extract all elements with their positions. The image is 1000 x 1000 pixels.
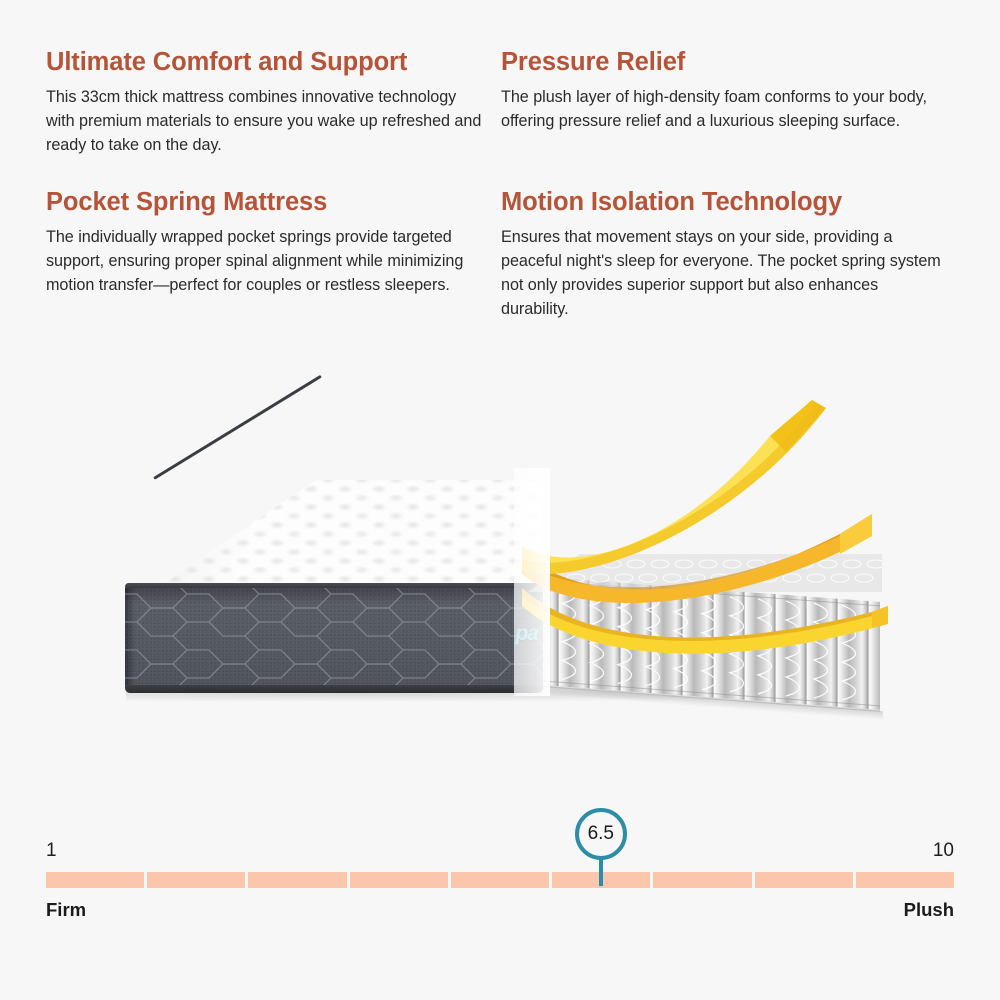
top-foam-layer: [520, 400, 870, 580]
firmness-scale-segment[interactable]: [248, 872, 346, 888]
firmness-scale-segment[interactable]: [350, 872, 448, 888]
mattress-bottom-edge: [125, 685, 543, 693]
mattress-side-panel: [125, 588, 543, 690]
mattress-hex-quilt-pattern: [125, 588, 543, 690]
firmness-scale-segment[interactable]: [856, 872, 954, 888]
firmness-scale-segment[interactable]: [755, 872, 853, 888]
feature-body: The plush layer of high-density foam con…: [501, 86, 941, 134]
firmness-scale-segment[interactable]: [653, 872, 751, 888]
firmness-scale: 1 10 6.5 Firm Plush: [46, 812, 954, 922]
firmness-min-number: 1: [46, 840, 57, 862]
feature-block-comfort: Ultimate Comfort and Support This 33cm t…: [46, 48, 486, 158]
feature-title: Pressure Relief: [501, 48, 941, 77]
mattress-body: pa: [124, 480, 544, 695]
firmness-max-number: 10: [933, 840, 954, 862]
firmness-scale-segment[interactable]: [147, 872, 245, 888]
firmness-label-plush: Plush: [904, 899, 954, 921]
mattress-piping-back: [153, 375, 322, 480]
feature-title: Motion Isolation Technology: [501, 188, 941, 217]
feature-body: The individually wrapped pocket springs …: [46, 226, 486, 297]
product-cutaway-illustration: pa: [0, 380, 1000, 770]
feature-body: Ensures that movement stays on your side…: [501, 226, 941, 321]
firmness-marker-bubble: 6.5: [575, 808, 627, 860]
features-grid: Ultimate Comfort and Support This 33cm t…: [0, 0, 1000, 321]
feature-block-pocket-spring: Pocket Spring Mattress The individually …: [46, 188, 486, 322]
firmness-scale-segment[interactable]: [46, 872, 144, 888]
cutaway-plane-veil: [514, 468, 550, 696]
firmness-marker-stem: [599, 858, 603, 886]
feature-body: This 33cm thick mattress combines innova…: [46, 86, 486, 157]
feature-block-motion-isolation: Motion Isolation Technology Ensures that…: [501, 188, 941, 322]
feature-title: Pocket Spring Mattress: [46, 188, 486, 217]
feature-title: Ultimate Comfort and Support: [46, 48, 486, 77]
firmness-scale-track[interactable]: [46, 872, 954, 888]
mattress-quilted-top-surface: [124, 480, 544, 588]
firmness-label-firm: Firm: [46, 899, 86, 921]
firmness-scale-segment[interactable]: [451, 872, 549, 888]
feature-block-pressure-relief: Pressure Relief The plush layer of high-…: [501, 48, 941, 158]
